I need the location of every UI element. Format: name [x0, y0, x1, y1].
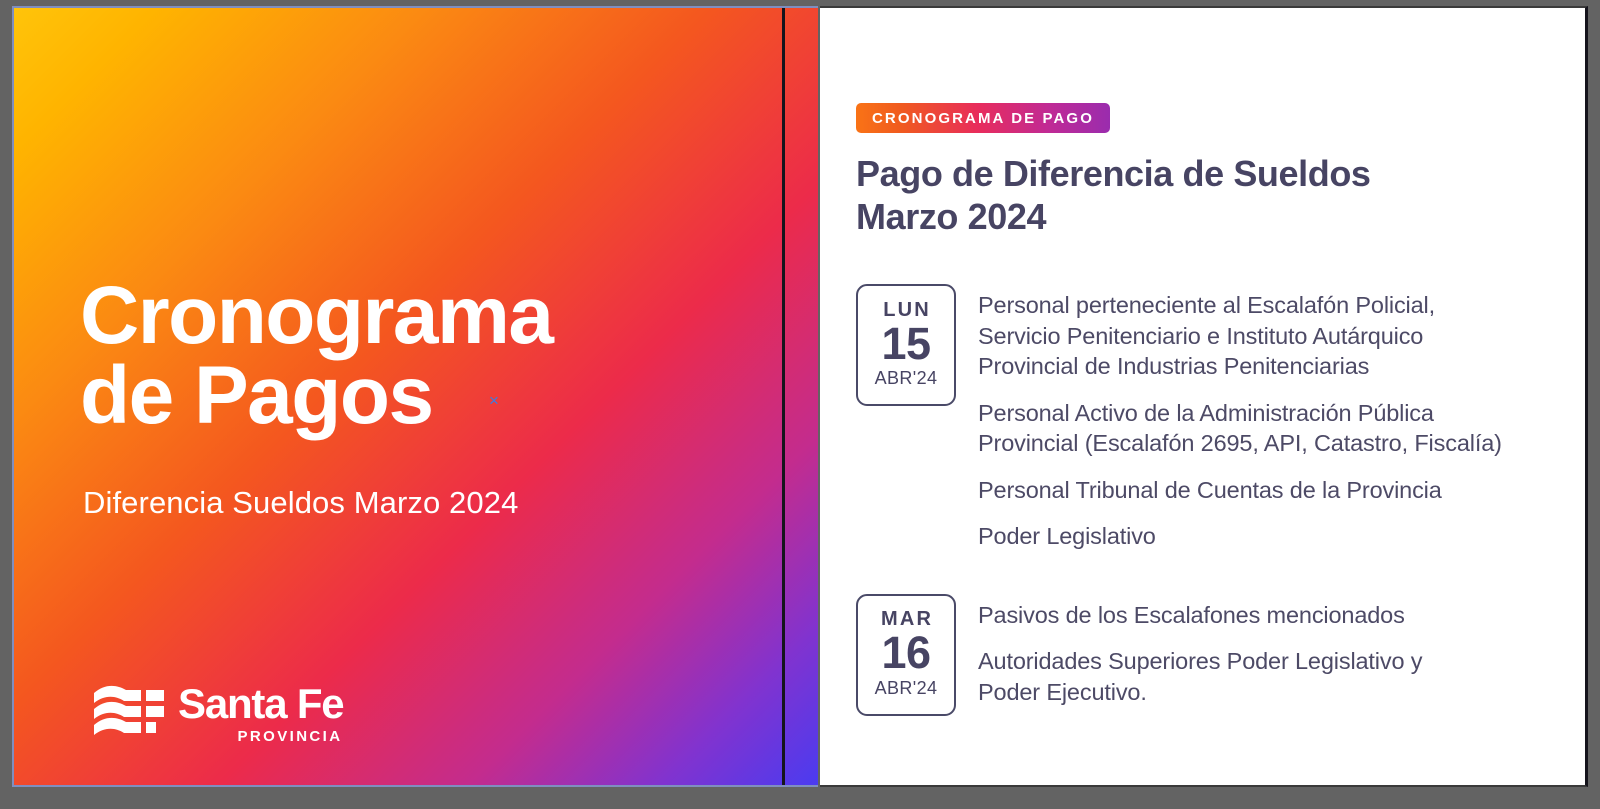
list-item: Personal perteneciente al Escalafón Poli… — [978, 290, 1562, 382]
date-month-year: ABR'24 — [875, 368, 938, 389]
date-badge: LUN 15 ABR'24 — [856, 284, 956, 406]
status-badge-label: CRONOGRAMA DE PAGO — [872, 110, 1094, 127]
status-badge: CRONOGRAMA DE PAGO — [856, 103, 1110, 133]
logo-text: Santa Fe PROVINCIA — [178, 683, 343, 745]
date-day-number: 16 — [881, 630, 930, 676]
list-item: Pasivos de los Escalafones mencionados — [978, 600, 1562, 631]
schedule-group: LUN 15 ABR'24 Personal perteneciente al … — [856, 284, 1562, 552]
date-badge: MAR 16 ABR'24 — [856, 594, 956, 716]
date-day-of-week: LUN — [881, 300, 931, 320]
date-day-number: 15 — [881, 321, 930, 367]
detail-content: CRONOGRAMA DE PAGO Pago de Diferencia de… — [856, 8, 1562, 785]
promo-content: Cronograma de Pagos Diferencia Sueldos M… — [80, 8, 780, 785]
cursor-marker-icon: × — [486, 393, 502, 409]
list-item: Personal Tribunal de Cuentas de la Provi… — [978, 475, 1562, 506]
schedule-group: MAR 16 ABR'24 Pasivos de los Escalafones… — [856, 594, 1562, 716]
schedule-group-items: Personal perteneciente al Escalafón Poli… — [978, 284, 1562, 552]
santa-fe-logo: Santa Fe PROVINCIA — [94, 683, 343, 746]
logo-wordmark: Santa Fe — [178, 683, 343, 724]
santa-fe-waves-logo-icon — [94, 685, 164, 746]
list-item: Poder Legislativo — [978, 521, 1562, 552]
promo-gradient-panel: Cronograma de Pagos Diferencia Sueldos M… — [12, 6, 818, 787]
list-item: Autoridades Superiores Poder Legislativo… — [978, 646, 1562, 707]
page-subtitle: Diferencia Sueldos Marzo 2024 — [83, 485, 518, 521]
detail-panel: CRONOGRAMA DE PAGO Pago de Diferencia de… — [820, 6, 1588, 787]
screenshot-frame: Cronograma de Pagos Diferencia Sueldos M… — [0, 0, 1600, 809]
payment-schedule-list: LUN 15 ABR'24 Personal perteneciente al … — [856, 284, 1562, 758]
logo-tagline: PROVINCIA — [238, 728, 343, 745]
date-day-of-week: MAR — [879, 609, 933, 629]
date-month-year: ABR'24 — [875, 678, 938, 699]
schedule-group-items: Pasivos de los Escalafones mencionados A… — [978, 594, 1562, 708]
detail-headline: Pago de Diferencia de Sueldos Marzo 2024 — [856, 152, 1496, 238]
page-title: Cronograma de Pagos — [80, 276, 553, 435]
panel-seam-divider — [782, 8, 785, 785]
list-item: Personal Activo de la Administración Púb… — [978, 398, 1562, 459]
